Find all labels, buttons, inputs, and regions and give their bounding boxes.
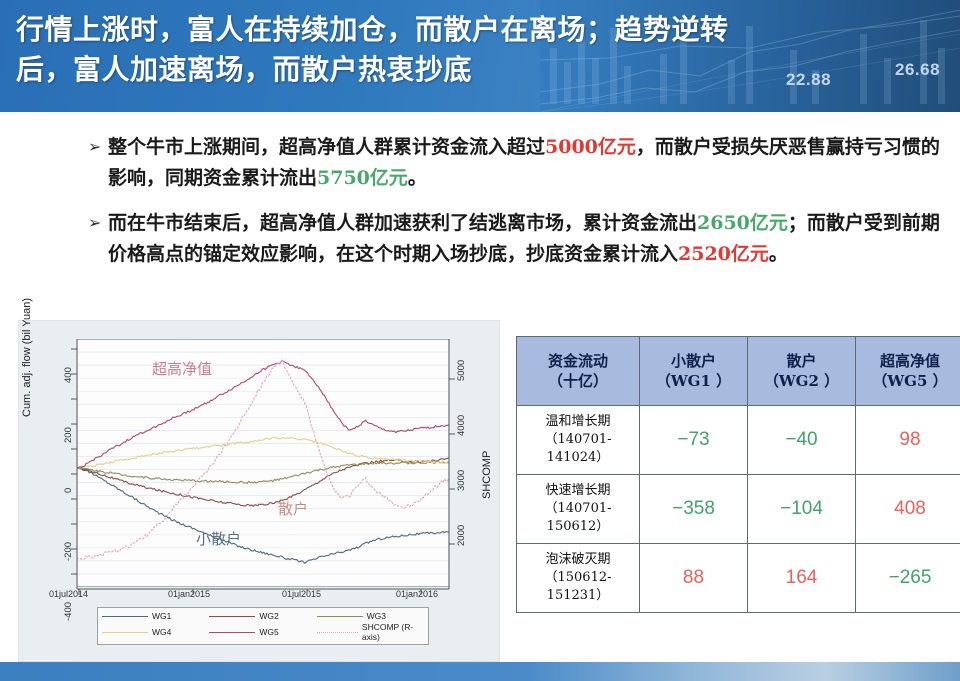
row-label-line-1: 泡沫破灭期 xyxy=(519,551,637,569)
table-col-header-wg2: 散户 （WG2 ） xyxy=(748,337,856,406)
flow-chart-panel: Cum. adj. flow (bil Yuan) SHCOMP Date 40… xyxy=(18,320,500,662)
chart-annotation-retail: 散户 xyxy=(278,498,308,519)
bullet-highlight-red: 5000亿元 xyxy=(545,136,636,158)
col-header-line-2: （WG2 ） xyxy=(750,371,853,391)
legend-entry: WG3 xyxy=(317,610,424,622)
chart-y-axis-label-left: Cum. adj. flow (bil Yuan) xyxy=(21,298,33,417)
page-title: 行情上涨时，富人在持续加仓，而散户在离场；趋势逆转 后，富人加速离场，而散户热衷… xyxy=(16,10,916,90)
col-header-line-1: 散户 xyxy=(750,351,853,371)
legend-label: WG1 xyxy=(152,611,171,621)
header-banner: 22.88 26.68 行情上涨时，富人在持续加仓，而散户在离场；趋势逆转 后，… xyxy=(0,0,960,112)
row-label-line-1: 温和增长期 xyxy=(519,413,637,431)
legend-label: WG2 xyxy=(259,611,278,621)
cell-wg1: 88 xyxy=(640,544,748,613)
bullet-highlight-green: 2650亿元 xyxy=(697,212,788,234)
bullet-highlight-green: 5750亿元 xyxy=(317,167,408,189)
chart-legend: WG1 WG2 WG3 WG4 WG5 xyxy=(97,607,429,645)
cell-wg5: 98 xyxy=(856,406,960,475)
table-row: 温和增长期 （140701- 141024） −73 −40 98 xyxy=(517,406,960,475)
row-header-period: 快速增长期 （140701- 150612） xyxy=(517,475,640,544)
table-col-header-wg1: 小散户 （WG1 ） xyxy=(640,337,748,406)
bullet-segment: 整个牛市上涨期间，超高净值人群累计资金流入超过 xyxy=(108,136,545,158)
cell-wg2: −40 xyxy=(748,406,856,475)
col-header-line-1: 资金流动 xyxy=(519,351,637,371)
table-col-header-wg5: 超高净值 （WG5 ） xyxy=(856,337,960,406)
row-label-line-3: 141024） xyxy=(519,449,637,467)
chart-inner: Cum. adj. flow (bil Yuan) SHCOMP Date 40… xyxy=(19,321,499,661)
cell-wg1: −358 xyxy=(640,475,748,544)
cell-wg2: −104 xyxy=(748,475,856,544)
legend-swatch-shcomp xyxy=(317,632,358,633)
row-label-line-2: （150612- xyxy=(519,569,637,587)
table-row: 快速增长期 （140701- 150612） −358 −104 408 xyxy=(517,475,960,544)
y-tick-left: -400 xyxy=(63,602,74,621)
col-header-line-2: （WG1 ） xyxy=(642,371,745,391)
legend-label: SHCOMP (R-axis) xyxy=(362,622,424,642)
table-col-header-metric: 资金流动 （十亿） xyxy=(517,337,640,406)
cell-wg5: −265 xyxy=(856,544,960,613)
arrow-bullet-icon: ➢ xyxy=(88,132,108,162)
arrow-bullet-icon: ➢ xyxy=(88,208,108,238)
col-header-line-1: 小散户 xyxy=(642,351,745,371)
row-header-period: 泡沫破灭期 （150612- 151231） xyxy=(517,544,640,613)
legend-swatch-wg5 xyxy=(209,632,255,633)
row-label-line-3: 151231） xyxy=(519,587,637,605)
bullet-text: 而在牛市结束后，超高净值人群加速获利了结逃离市场，累计资金流出2650亿元；而散… xyxy=(108,208,948,270)
legend-label: WG5 xyxy=(259,627,278,637)
chart-axis-decoration xyxy=(69,331,459,601)
chart-annotation-small-retail: 小散户 xyxy=(196,528,241,549)
bullet-text: 整个牛市上涨期间，超高净值人群累计资金流入超过5000亿元，而散户受损失厌恶售赢… xyxy=(108,132,948,194)
col-header-line-2: （十亿） xyxy=(519,371,637,391)
fund-flow-table: 资金流动 （十亿） 小散户 （WG1 ） 散户 （WG2 ） 超高净值 （WG5… xyxy=(516,336,960,613)
row-header-period: 温和增长期 （140701- 141024） xyxy=(517,406,640,475)
cell-wg5: 408 xyxy=(856,475,960,544)
page-title-line-1: 行情上涨时，富人在持续加仓，而散户在离场；趋势逆转 xyxy=(16,10,916,50)
bullet-item: ➢ 整个牛市上涨期间，超高净值人群累计资金流入超过5000亿元，而散户受损失厌恶… xyxy=(88,132,948,194)
legend-swatch-wg1 xyxy=(102,616,148,617)
col-header-line-1: 超高净值 xyxy=(858,351,960,371)
table-row: 泡沫破灭期 （150612- 151231） 88 164 −265 xyxy=(517,544,960,613)
row-label-line-2: （140701- xyxy=(519,431,637,449)
bullet-item: ➢ 而在牛市结束后，超高净值人群加速获利了结逃离市场，累计资金流出2650亿元；… xyxy=(88,208,948,270)
cell-wg1: −73 xyxy=(640,406,748,475)
legend-swatch-wg3 xyxy=(317,616,363,617)
cell-wg2: 164 xyxy=(748,544,856,613)
legend-swatch-wg2 xyxy=(209,616,255,617)
legend-entry: SHCOMP (R-axis) xyxy=(317,622,424,642)
legend-swatch-wg4 xyxy=(102,632,148,633)
chart-annotation-uhnw: 超高净值 xyxy=(152,358,212,379)
row-label-line-3: 150612） xyxy=(519,518,637,536)
legend-entry: WG2 xyxy=(209,610,316,622)
bullet-segment: 。 xyxy=(769,243,788,265)
legend-entry: WG1 xyxy=(102,610,209,622)
col-header-line-2: （WG5 ） xyxy=(858,371,960,391)
legend-entry: WG5 xyxy=(209,622,316,642)
row-label-line-2: （140701- xyxy=(519,500,637,518)
table-header-row: 资金流动 （十亿） 小散户 （WG1 ） 散户 （WG2 ） 超高净值 （WG5… xyxy=(517,337,960,406)
bullet-segment: 。 xyxy=(408,167,427,189)
legend-label: WG4 xyxy=(152,627,171,637)
bullet-segment: 而在牛市结束后，超高净值人群加速获利了结逃离市场，累计资金流出 xyxy=(108,212,697,234)
page-title-line-2: 后，富人加速离场，而散户热衷抄底 xyxy=(16,50,916,90)
bullet-highlight-red: 2520亿元 xyxy=(678,243,769,265)
chart-y-axis-label-right: SHCOMP xyxy=(481,451,493,499)
fund-flow-table-wrapper: 资金流动 （十亿） 小散户 （WG1 ） 散户 （WG2 ） 超高净值 （WG5… xyxy=(516,336,944,613)
bullet-list: ➢ 整个牛市上涨期间，超高净值人群累计资金流入超过5000亿元，而散户受损失厌恶… xyxy=(88,132,948,284)
row-label-line-1: 快速增长期 xyxy=(519,482,637,500)
legend-entry: WG4 xyxy=(102,622,209,642)
legend-label: WG3 xyxy=(367,611,386,621)
footer-bar xyxy=(0,662,960,681)
